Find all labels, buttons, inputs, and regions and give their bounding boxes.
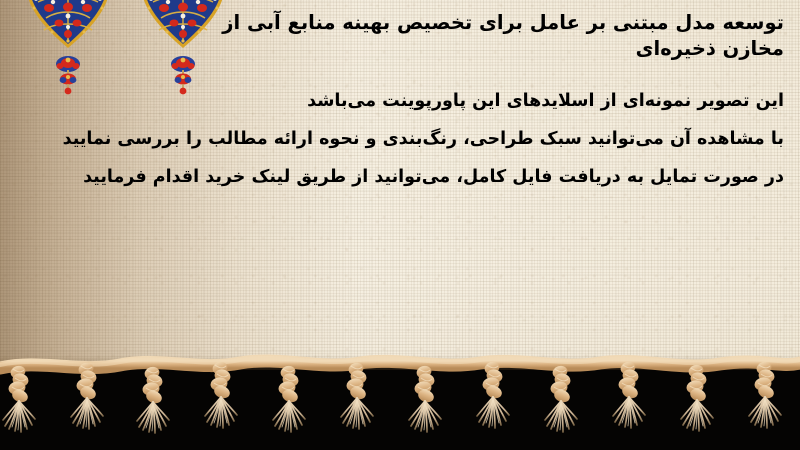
carpet-fringe (0, 350, 800, 450)
slide-canvas: توسعه مدل مبتنی بر عامل برای تخصیص بهینه… (0, 0, 800, 450)
slide-title-line-1: توسعه مدل مبتنی بر عامل برای تخصیص بهینه… (20, 10, 784, 36)
bottom-black-band (0, 364, 800, 450)
body-line-3: در صورت تمایل به دریافت فایل کامل، می‌تو… (16, 162, 784, 192)
slide-title-line-2: مخازن ذخیره‌ای (20, 36, 784, 62)
slide-body: این تصویر نمونه‌ای از اسلایدهای این پاور… (16, 62, 784, 192)
slide-title: توسعه مدل مبتنی بر عامل برای تخصیص بهینه… (16, 4, 784, 62)
body-line-2: با مشاهده آن می‌توانید سبک طراحی، رنگ‌بن… (16, 124, 784, 154)
body-line-1: این تصویر نمونه‌ای از اسلایدهای این پاور… (16, 86, 784, 116)
